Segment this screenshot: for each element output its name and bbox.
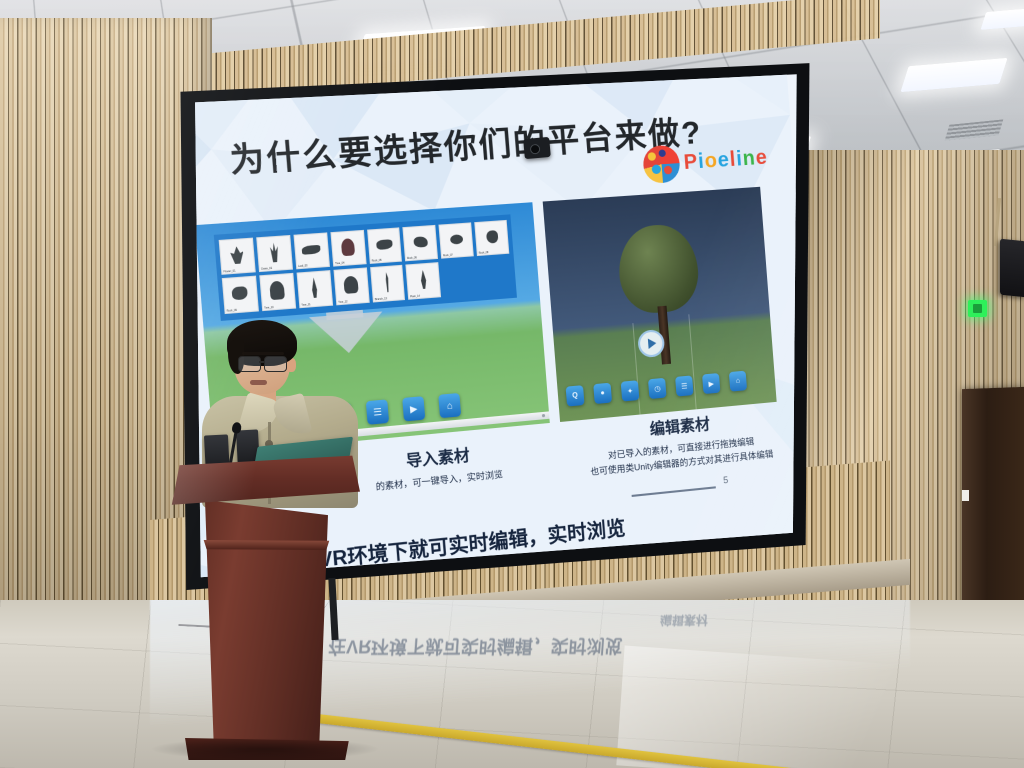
asset-tile-grid[interactable]: Flower_01 Grass_02 Leaf_03 Tree_04 Rock_… — [214, 214, 517, 320]
asset-tile[interactable]: Rock_09 — [222, 276, 259, 314]
asset-tile-label: Tree_11 — [301, 303, 310, 307]
exit-icon[interactable]: ⌂ — [729, 371, 747, 392]
timer-icon[interactable]: ◷ — [648, 378, 667, 399]
wall-speaker-icon — [1000, 239, 1024, 298]
asset-tile-label: Rock_07 — [443, 254, 453, 258]
asset-tile[interactable]: Rock_08 — [474, 220, 509, 256]
asset-tile-label: Plant_14 — [410, 294, 420, 298]
asset-tile-label: Rock_08 — [479, 252, 489, 256]
asset-tile[interactable]: Branch_13 — [370, 265, 406, 302]
eyeglass-bridge — [259, 361, 264, 363]
asset-tile-label: Tree_04 — [335, 262, 345, 266]
asset-tile[interactable]: Tree_12 — [333, 268, 369, 305]
pioeline-logo-mark — [642, 144, 681, 184]
asset-tile[interactable]: Grass_02 — [256, 235, 293, 272]
eyeglasses-icon — [238, 356, 290, 371]
wall-switch-plate[interactable] — [962, 490, 969, 501]
podium-base — [178, 738, 354, 760]
asset-tile-label: Leaf_03 — [298, 265, 307, 269]
display-top-camera-icon — [523, 137, 551, 159]
exit-icon[interactable]: ⌂ — [438, 393, 461, 418]
qa-icon[interactable]: Q — [566, 385, 585, 406]
asset-tile-label: Tree_12 — [338, 300, 348, 304]
tree-crown — [616, 222, 701, 315]
slide-page-number: 5 — [723, 475, 729, 486]
eyeglass-lens-left — [238, 356, 261, 372]
asset-tile[interactable]: Rock_05 — [367, 227, 403, 264]
asset-tile[interactable]: Plant_14 — [406, 262, 441, 299]
list-icon[interactable]: ☰ — [675, 375, 694, 396]
pioeline-logo-text: Pioeline — [683, 146, 769, 175]
asset-tile-label: Rock_09 — [227, 309, 237, 313]
photo-scene: 捷，在VR环境下就可实时编辑，实时浏览 编辑素材 — [0, 0, 1024, 768]
asset-tile-label: Tree_10 — [264, 306, 274, 310]
floor: 捷，在VR环境下就可实时编辑，实时浏览 编辑素材 — [0, 600, 1024, 768]
effects-icon[interactable]: ✦ — [621, 380, 640, 401]
asset-tile[interactable]: Rock_07 — [439, 222, 474, 259]
list-icon[interactable]: ☰ — [366, 399, 389, 424]
play-icon[interactable]: ▶ — [402, 396, 425, 421]
asset-tile[interactable]: Leaf_03 — [293, 232, 329, 269]
play-icon[interactable]: ▶ — [702, 373, 720, 394]
exit-sign-icon — [968, 300, 987, 317]
vr-toolbar-right[interactable]: Q ● ✦ ◷ ☰ ▶ ⌂ — [566, 371, 748, 407]
wooden-podium — [168, 452, 360, 752]
eyeglass-lens-right — [264, 356, 287, 372]
asset-tile-label: Grass_02 — [261, 267, 272, 271]
asset-tile[interactable]: Rock_06 — [403, 225, 439, 262]
asset-tile[interactable]: Flower_01 — [219, 238, 256, 276]
asset-tile[interactable]: Tree_11 — [296, 270, 332, 307]
podium-lip — [192, 540, 338, 550]
presenter-mouth — [250, 380, 267, 385]
asset-tile-label: Rock_05 — [371, 259, 381, 263]
asset-tile[interactable]: Tree_10 — [259, 273, 296, 311]
asset-tile-label: Flower_01 — [223, 270, 235, 274]
panel-light-5 — [980, 8, 1024, 30]
asset-tile-label: Rock_06 — [407, 257, 417, 261]
sphere-icon[interactable]: ● — [593, 383, 612, 404]
podium-top — [168, 452, 360, 512]
presenter-brow — [242, 352, 284, 355]
podium-body — [190, 500, 340, 752]
asset-tile[interactable]: Tree_04 — [330, 230, 366, 267]
asset-tile-label: Branch_13 — [374, 297, 386, 301]
reflected-caption: 编辑素材 — [659, 612, 708, 629]
vr-scene-tree-editor-screenshot[interactable]: Q ● ✦ ◷ ☰ ▶ ⌂ — [543, 187, 777, 422]
